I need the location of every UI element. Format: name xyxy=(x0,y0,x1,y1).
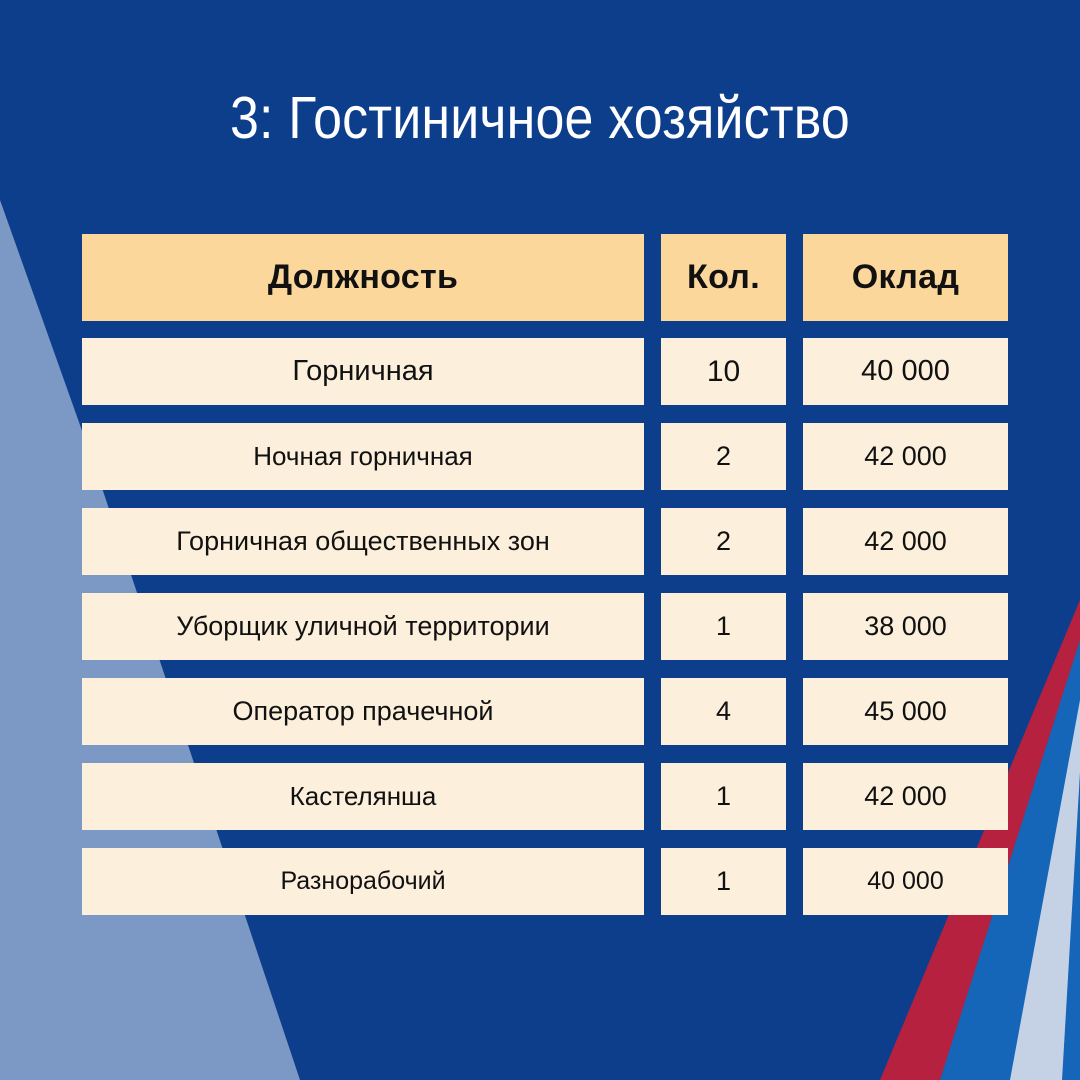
column-header-pay: Оклад xyxy=(803,234,1008,321)
cell-count: 2 xyxy=(661,423,786,490)
cell-role: Ночная горничная xyxy=(82,423,644,490)
cell-role: Горничная xyxy=(82,338,644,405)
cell-count: 1 xyxy=(661,593,786,660)
table-row: Разнорабочий 1 40 000 xyxy=(82,848,1008,915)
cell-count: 2 xyxy=(661,508,786,575)
cell-pay: 42 000 xyxy=(803,508,1008,575)
page-title: 3: Гостиничное хозяйство xyxy=(65,88,1015,150)
cell-pay: 40 000 xyxy=(803,338,1008,405)
table-row: Горничная 10 40 000 xyxy=(82,338,1008,405)
cell-count: 10 xyxy=(661,338,786,405)
table-row: Уборщик уличной территории 1 38 000 xyxy=(82,593,1008,660)
table-row: Горничная общественных зон 2 42 000 xyxy=(82,508,1008,575)
cell-role: Горничная общественных зон xyxy=(82,508,644,575)
slide: 3: Гостиничное хозяйство Должность Кол. … xyxy=(0,0,1080,1080)
cell-pay: 38 000 xyxy=(803,593,1008,660)
left-light-fan xyxy=(0,930,296,1080)
table-row: Кастелянша 1 42 000 xyxy=(82,763,1008,830)
table-row: Ночная горничная 2 42 000 xyxy=(82,423,1008,490)
cell-role: Разнорабочий xyxy=(82,848,644,915)
table-header-row: Должность Кол. Оклад xyxy=(82,234,1008,321)
cell-pay: 42 000 xyxy=(803,423,1008,490)
column-header-role: Должность xyxy=(82,234,644,321)
cell-role: Уборщик уличной территории xyxy=(82,593,644,660)
cell-pay: 45 000 xyxy=(803,678,1008,745)
cell-count: 4 xyxy=(661,678,786,745)
cell-count: 1 xyxy=(661,848,786,915)
stripe-pale xyxy=(1010,700,1080,1080)
cell-pay: 40 000 xyxy=(803,848,1008,915)
stripe-blue-outer xyxy=(1062,772,1080,1080)
cell-role: Кастелянша xyxy=(82,763,644,830)
cell-role: Оператор прачечной xyxy=(82,678,644,745)
cell-pay: 42 000 xyxy=(803,763,1008,830)
left-light-wedge-lower xyxy=(0,1020,300,1080)
cell-count: 1 xyxy=(661,763,786,830)
table-row: Оператор прачечной 4 45 000 xyxy=(82,678,1008,745)
column-header-count: Кол. xyxy=(661,234,786,321)
salary-table: Должность Кол. Оклад Горничная 10 40 000… xyxy=(82,234,1008,915)
